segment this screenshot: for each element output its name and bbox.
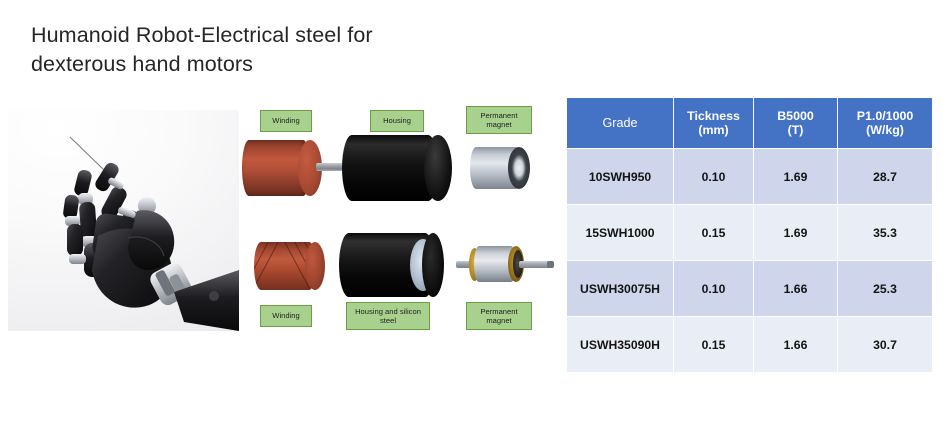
cell-p10-1000: 28.7 xyxy=(838,149,933,205)
cell-b5000: 1.69 xyxy=(754,149,838,205)
label-permanent-magnet-top: Permanent magnet xyxy=(466,106,532,134)
column-header-thickness-line1: Tickness xyxy=(687,109,740,123)
part-housing-top-endcap xyxy=(424,135,452,201)
part-housing-bottom-endcap xyxy=(422,233,444,297)
cell-grade: 15SWH1000 xyxy=(567,205,674,261)
electrical-steel-spec-table: Grade Tickness (mm) B5000 (T) P1.0/1000 … xyxy=(566,97,933,373)
table-row: 15SWH1000 0.15 1.69 35.3 xyxy=(567,205,933,261)
label-winding-bottom: Winding xyxy=(260,305,312,327)
page-title: Humanoid Robot-Electrical steel for dext… xyxy=(31,21,461,79)
robot-hand-illustration xyxy=(8,110,239,331)
cell-grade: USWH35090H xyxy=(567,317,674,373)
column-header-p10-1000-line2: (W/kg) xyxy=(866,123,904,137)
robot-hand-svg xyxy=(8,110,239,331)
cell-grade: 10SWH950 xyxy=(567,149,674,205)
column-header-grade-line1: Grade xyxy=(602,116,637,130)
column-header-grade[interactable]: Grade xyxy=(567,98,674,149)
label-permanent-magnet-bottom: Permanent magnet xyxy=(466,302,532,330)
column-header-p10-1000[interactable]: P1.0/1000 (W/kg) xyxy=(838,98,933,149)
motor-exploded-diagram: Winding Housing Permanent magnet Winding… xyxy=(242,100,562,340)
part-rotor-shaft-right-tip xyxy=(547,261,554,268)
cell-thickness: 0.10 xyxy=(674,149,754,205)
part-winding-bottom-endcap xyxy=(305,242,325,290)
cell-p10-1000: 30.7 xyxy=(838,317,933,373)
label-housing-top: Housing xyxy=(370,110,424,132)
cell-thickness: 0.15 xyxy=(674,205,754,261)
label-housing-silicon-steel: Housing and silicon steel xyxy=(346,302,430,330)
cell-grade: USWH30075H xyxy=(567,261,674,317)
robot-hand-photo xyxy=(8,110,239,331)
column-header-thickness-line2: (mm) xyxy=(698,123,728,137)
label-winding-top: Winding xyxy=(260,110,312,132)
table-row: 10SWH950 0.10 1.69 28.7 xyxy=(567,149,933,205)
cell-p10-1000: 25.3 xyxy=(838,261,933,317)
cell-b5000: 1.66 xyxy=(754,317,838,373)
column-header-b5000-line1: B5000 xyxy=(777,109,814,123)
column-header-p10-1000-line1: P1.0/1000 xyxy=(857,109,914,123)
cell-b5000: 1.66 xyxy=(754,261,838,317)
cell-p10-1000: 35.3 xyxy=(838,205,933,261)
cell-thickness: 0.15 xyxy=(674,317,754,373)
column-header-thickness[interactable]: Tickness (mm) xyxy=(674,98,754,149)
cell-thickness: 0.10 xyxy=(674,261,754,317)
column-header-b5000[interactable]: B5000 (T) xyxy=(754,98,838,149)
table-row: USWH35090H 0.15 1.66 30.7 xyxy=(567,317,933,373)
cell-b5000: 1.69 xyxy=(754,205,838,261)
column-header-b5000-line2: (T) xyxy=(788,123,804,137)
part-permanent-magnet-top-endcap xyxy=(508,147,530,189)
table-header-row: Grade Tickness (mm) B5000 (T) P1.0/1000 … xyxy=(567,98,933,149)
needle xyxy=(70,137,104,170)
table-row: USWH30075H 0.10 1.66 25.3 xyxy=(567,261,933,317)
